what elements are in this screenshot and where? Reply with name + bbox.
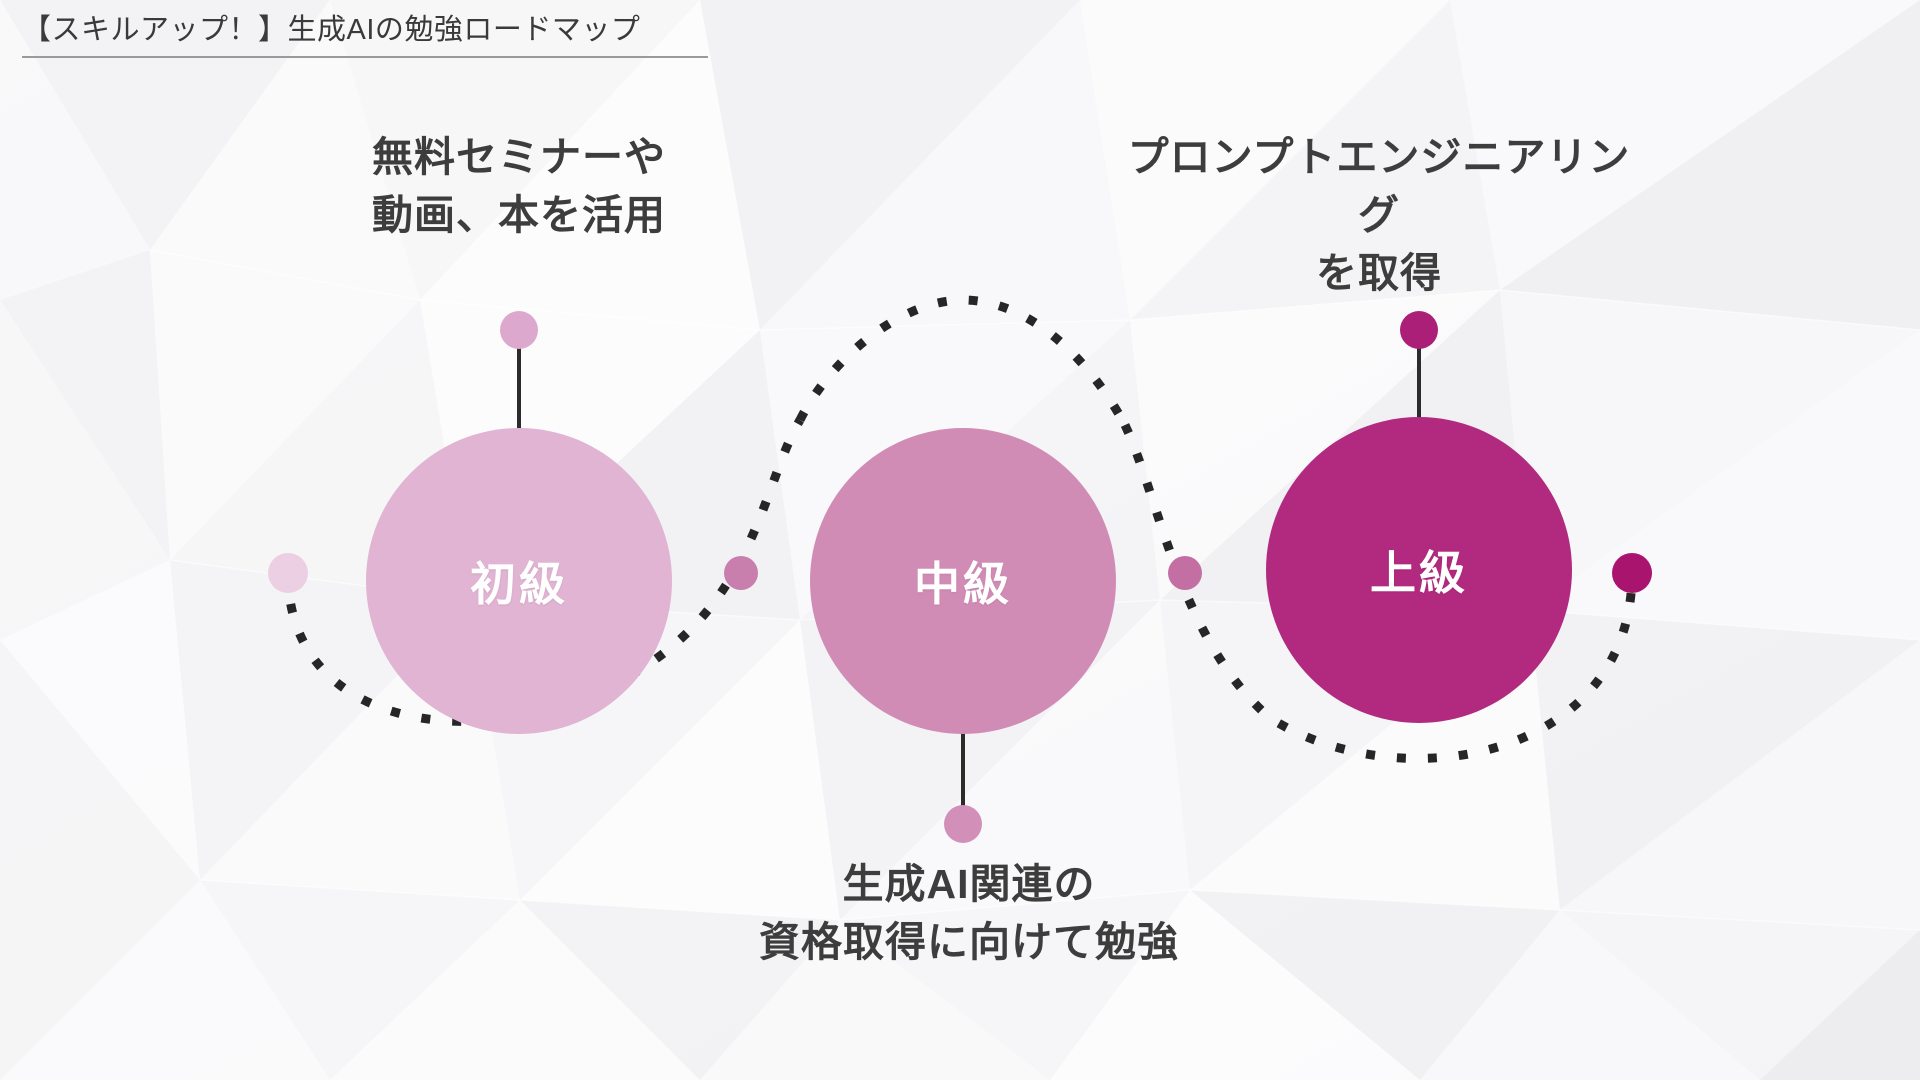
callout-node-beginner (500, 311, 538, 349)
stage-label-beginner: 初級 (470, 548, 568, 614)
dotted-path-segment-top (800, 300, 1125, 425)
callout-node-advanced (1400, 311, 1438, 349)
start-node-icon (268, 553, 308, 593)
link-node-1-icon (724, 556, 758, 590)
callout-note-beginner: 無料セミナーや 動画、本を活用 (372, 128, 666, 244)
page-title: 【スキルアップ！】生成AIの勉強ロードマップ (22, 12, 742, 50)
stage-label-intermediate: 中級 (914, 548, 1012, 614)
title-underline (22, 56, 708, 58)
stage-label-advanced: 上級 (1370, 537, 1468, 603)
callout-note-intermediate: 生成AI関連の 資格取得に向けて勉強 (759, 855, 1179, 971)
link-node-2-icon (1168, 556, 1202, 590)
page-title-block: 【スキルアップ！】生成AIの勉強ロードマップ (22, 12, 742, 58)
callout-node-intermediate (944, 805, 982, 843)
callout-note-advanced: プロンプトエンジニアリング を取得 (1109, 128, 1650, 303)
end-node-icon (1612, 553, 1652, 593)
